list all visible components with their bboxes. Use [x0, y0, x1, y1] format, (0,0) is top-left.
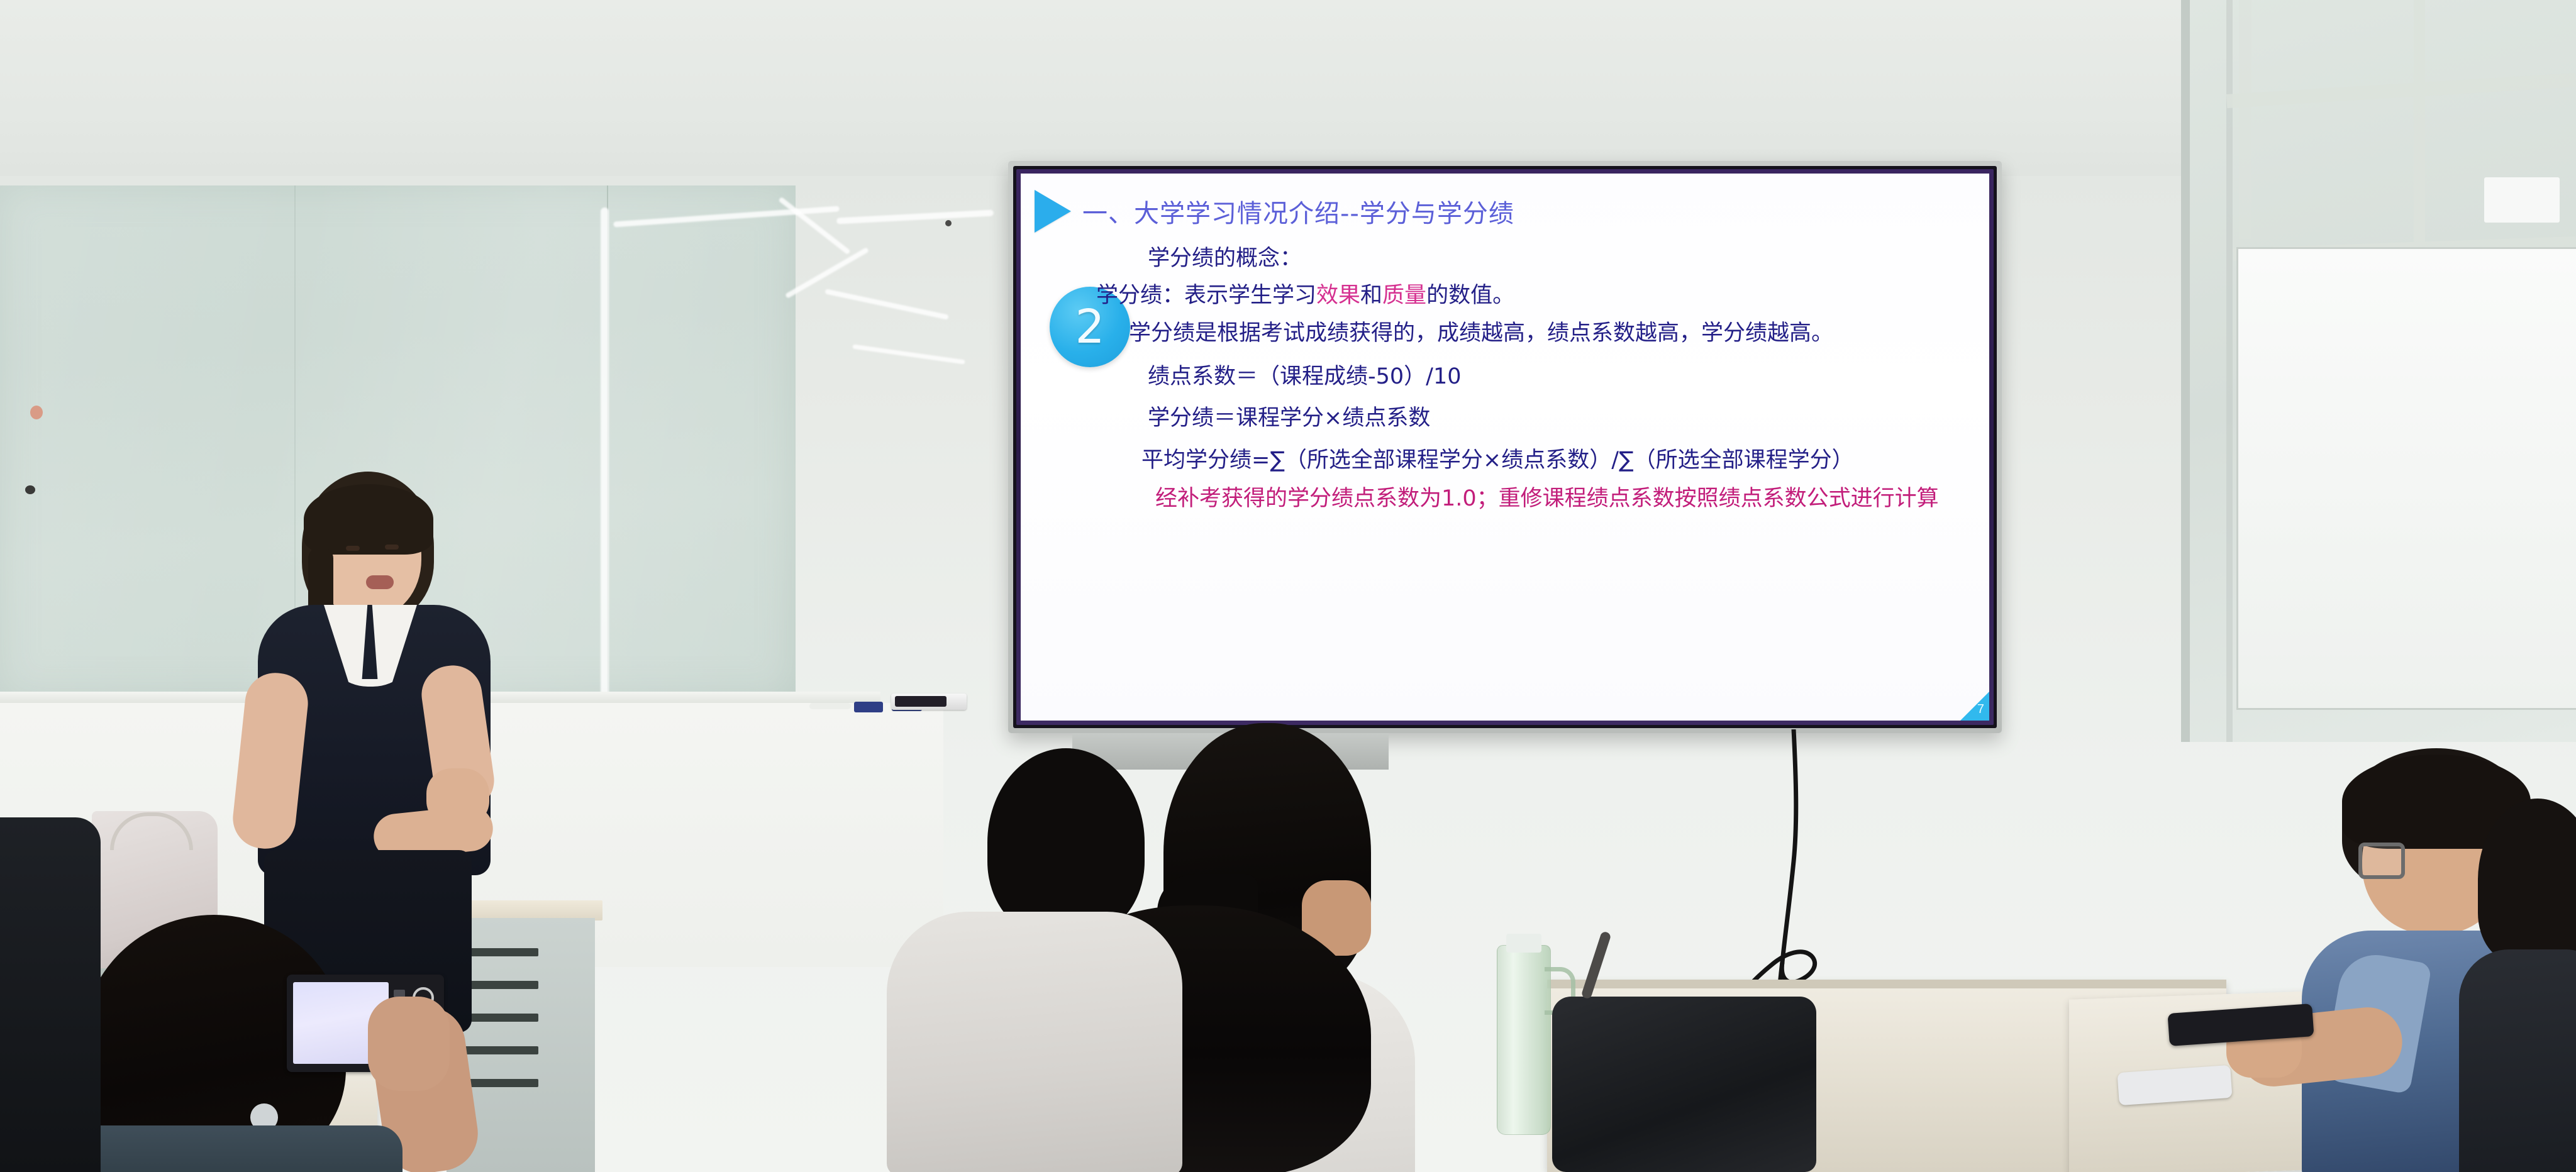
classroom-photo: 一、大学学习情况介绍--学分与学分绩 2 学分绩的概念： 学分绩：表示学生学习效… — [0, 0, 2576, 1172]
triangle-arrow-icon — [1035, 190, 1071, 233]
student-hand — [368, 997, 450, 1091]
glasses-icon — [2358, 843, 2405, 879]
desk-edge — [1547, 980, 2226, 988]
student-hair — [2478, 799, 2576, 962]
slide-page-corner: 7 — [1960, 692, 1989, 721]
backpack[interactable] — [1552, 997, 1816, 1172]
slide-line-concept-heading: 学分绩的概念： — [1096, 244, 1989, 274]
slide-title: 一、大学学习情况介绍--学分与学分绩 — [1082, 193, 1514, 229]
slide-line-formula-2: 学分绩＝课程学分×绩点系数 — [1096, 404, 1989, 433]
slide-line-note: 经补考获得的学分绩点系数为1.0；重修课程绩点系数按照绩点系数公式进行计算 — [1096, 485, 1980, 514]
whiteboard-eraser[interactable] — [891, 694, 967, 710]
definition-highlight-2: 质量 — [1382, 283, 1426, 308]
student-grey-jacket — [912, 748, 1176, 1172]
teacher-eye — [346, 546, 360, 551]
partition-mullion — [2414, 0, 2425, 245]
slide-body: 学分绩的概念： 学分绩：表示学生学习效果和质量的数值。 学分绩是根据考试成绩获得… — [1096, 241, 1989, 521]
teacher-hair-top — [304, 484, 433, 555]
bottle-cap — [1506, 934, 1541, 953]
marker-white[interactable] — [809, 703, 851, 709]
slide-line-formula-3: 平均学分绩=∑（所选全部课程学分×绩点系数）/∑（所选全部课程学分） — [1096, 446, 1942, 475]
water-bottle[interactable] — [1497, 945, 1551, 1135]
wall-mark — [25, 485, 35, 494]
slide-header-row: 一、大学学习情况介绍--学分与学分绩 — [1035, 190, 1514, 233]
right-whiteboard — [2236, 247, 2576, 710]
presentation-slide: 一、大学学习情况介绍--学分与学分绩 2 学分绩的概念： 学分绩：表示学生学习效… — [1021, 174, 1989, 721]
wall-display[interactable]: 一、大学学习情况介绍--学分与学分绩 2 学分绩的概念： 学分绩：表示学生学习效… — [1008, 161, 2002, 733]
student-hair — [987, 748, 1145, 937]
partition-frame — [2181, 0, 2190, 742]
student-right-dark — [2478, 799, 2576, 1172]
slide-line-definition: 学分绩：表示学生学习效果和质量的数值。 — [1096, 281, 1989, 311]
partition-frame — [2226, 0, 2233, 742]
student-right-arm — [2239, 937, 2453, 1172]
definition-suffix: 的数值。 — [1426, 283, 1514, 308]
partition-mullion — [2239, 0, 2251, 239]
teacher-eye — [385, 545, 399, 550]
whiteboard-smudge — [601, 207, 609, 698]
definition-prefix: 学分绩：表示学生学习 — [1096, 283, 1316, 308]
foreground-silhouette — [0, 817, 101, 1172]
slide-page-number: 7 — [1977, 702, 1984, 717]
slide-line-explain: 学分绩是根据考试成绩获得的，成绩越高，绩点系数越高，学分绩越高。 — [1096, 319, 1939, 348]
student-jacket — [887, 912, 1182, 1172]
wall-mounted-panel — [2484, 177, 2560, 223]
wall-mark — [30, 406, 43, 419]
student-torso — [2459, 949, 2576, 1172]
student-left-shoulder — [75, 1125, 402, 1172]
definition-mid: 和 — [1360, 283, 1382, 308]
marker-blue[interactable] — [854, 702, 883, 712]
slide-line-formula-1: 绩点系数＝（课程成绩-50）/10 — [1096, 362, 1989, 392]
definition-highlight-1: 效果 — [1316, 283, 1360, 308]
teacher-mouth — [366, 575, 394, 589]
wall-mark — [945, 220, 952, 226]
